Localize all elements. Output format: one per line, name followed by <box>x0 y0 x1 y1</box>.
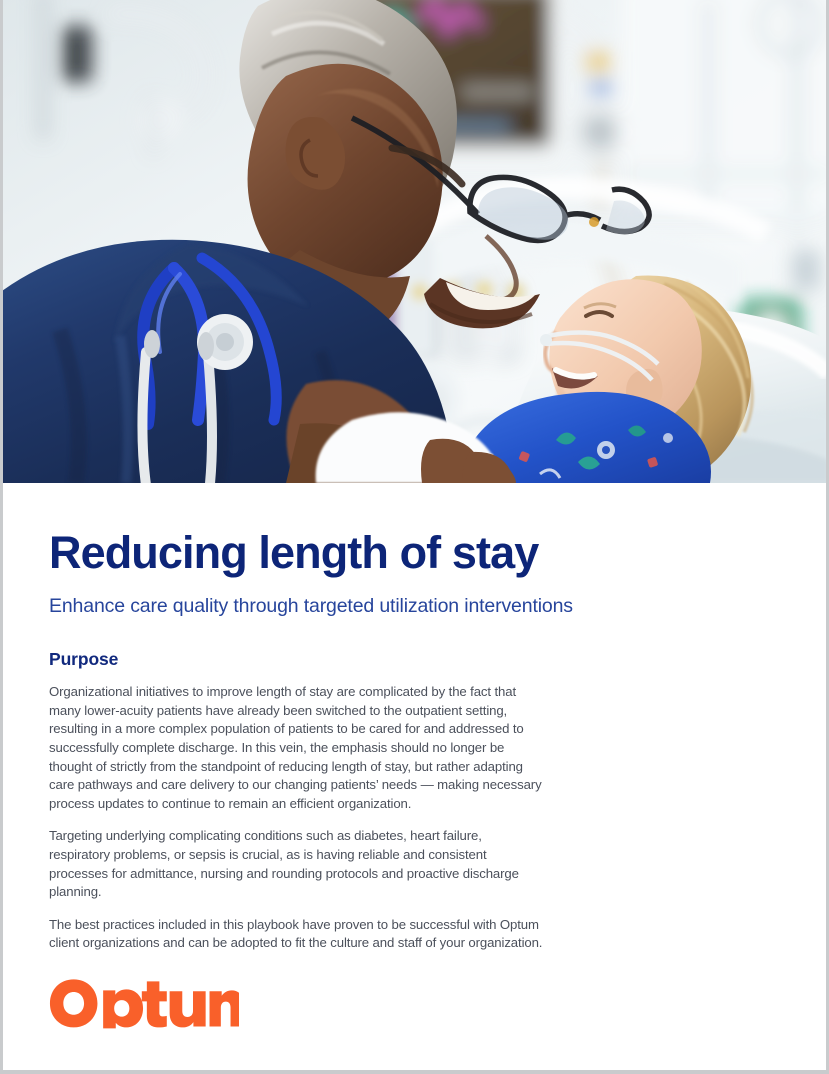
page-content: Reducing length of stay Enhance care qua… <box>3 483 826 1070</box>
purpose-paragraph-3: The best practices included in this play… <box>49 902 544 953</box>
purpose-paragraph-2: Targeting underlying complicating condit… <box>49 813 544 901</box>
optum-logo <box>49 978 239 1028</box>
hero-image <box>3 0 826 483</box>
hero-photo <box>3 0 826 483</box>
section-heading-purpose: Purpose <box>49 618 780 670</box>
page-title: Reducing length of stay <box>49 483 780 577</box>
optum-wordmark-icon <box>49 978 239 1029</box>
document-page: Reducing length of stay Enhance care qua… <box>0 0 829 1074</box>
page-subtitle: Enhance care quality through targeted ut… <box>49 577 780 618</box>
purpose-paragraph-1: Organizational initiatives to improve le… <box>49 670 544 813</box>
